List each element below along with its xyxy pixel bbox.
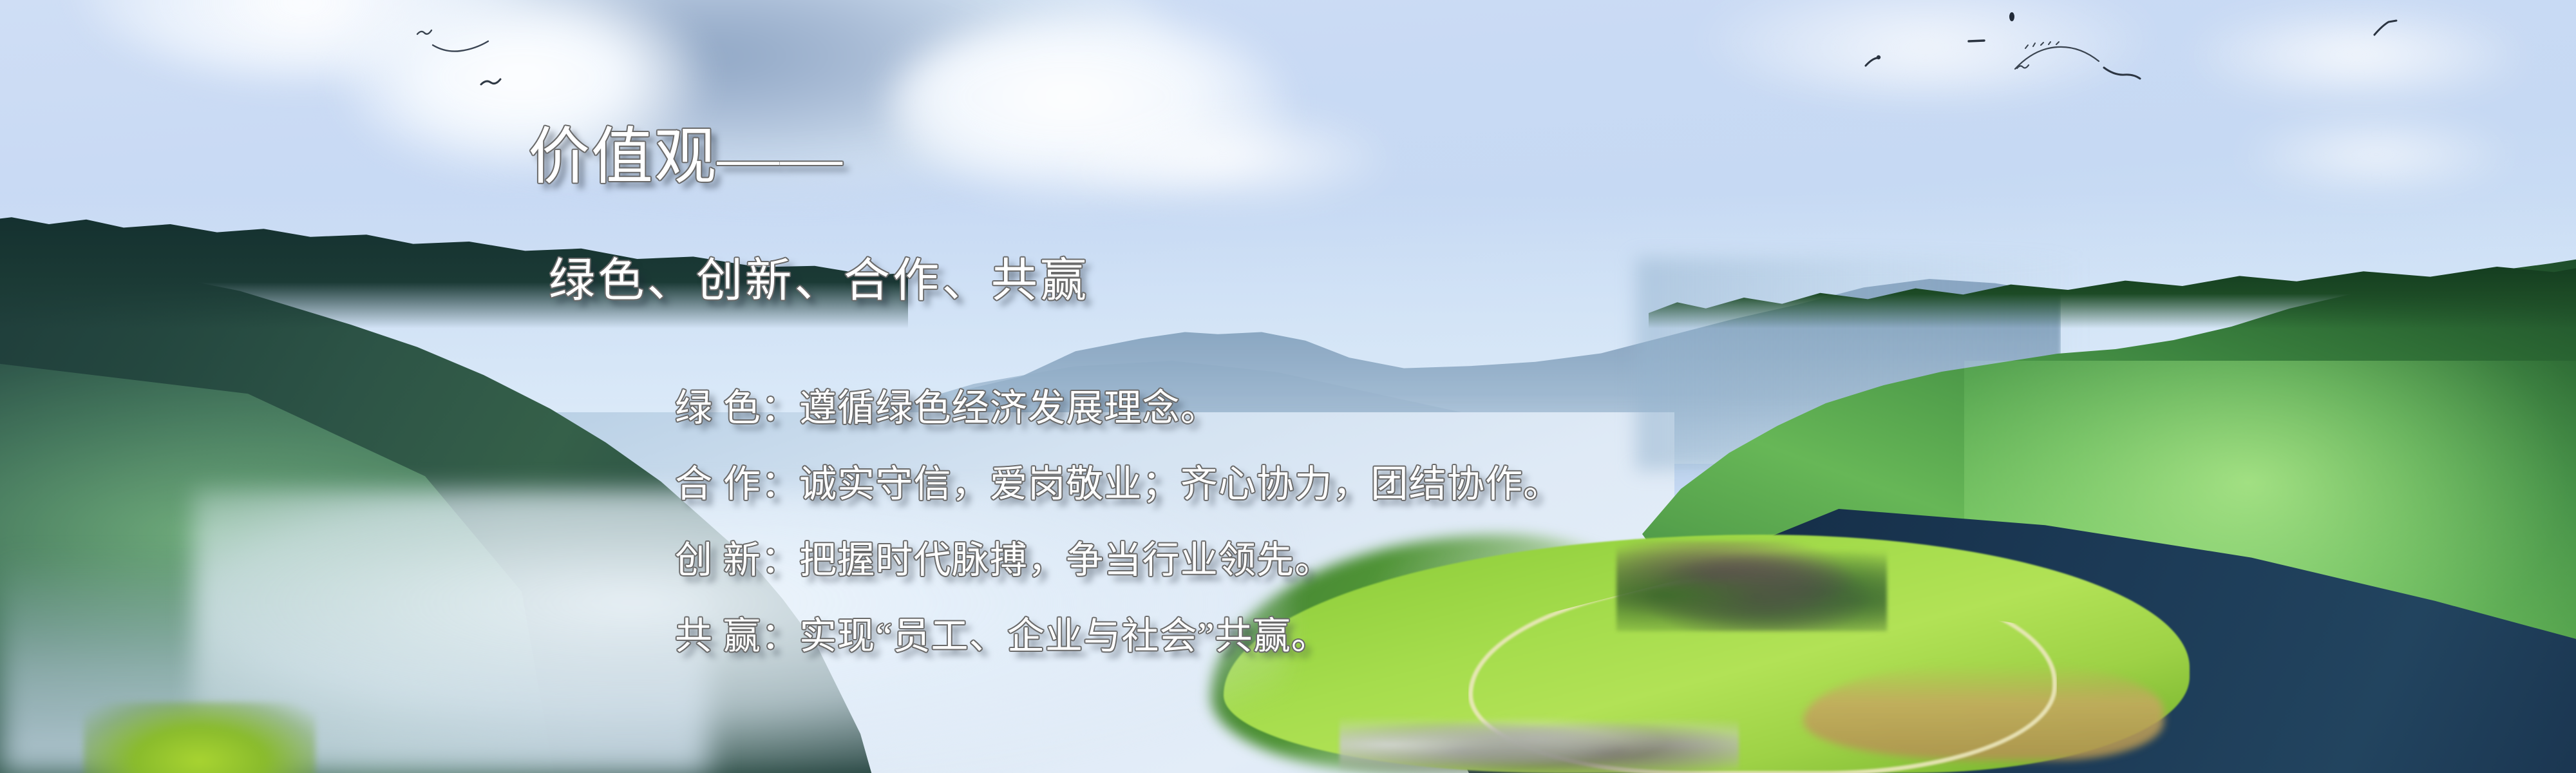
page-title: 价值观——	[528, 126, 844, 188]
values-subtitle: 绿色、创新、合作、共赢	[549, 258, 1090, 304]
value-item-innovation: 创 新：把握时代脉搏，争当行业领先。	[675, 542, 1332, 579]
values-text-block: 价值观—— 绿色、创新、合作、共赢 绿 色：遵循绿色经济发展理念。 合 作：诚实…	[0, 0, 2576, 773]
value-item-winwin: 共 赢：实现“员工、企业与社会”共赢。	[675, 618, 1329, 655]
value-item-green: 绿 色：遵循绿色经济发展理念。	[675, 390, 1218, 427]
value-item-cooperation: 合 作：诚实守信，爱岗敬业；齐心协力，团结协作。	[675, 466, 1561, 503]
values-banner: 价值观—— 绿色、创新、合作、共赢 绿 色：遵循绿色经济发展理念。 合 作：诚实…	[0, 0, 2576, 773]
